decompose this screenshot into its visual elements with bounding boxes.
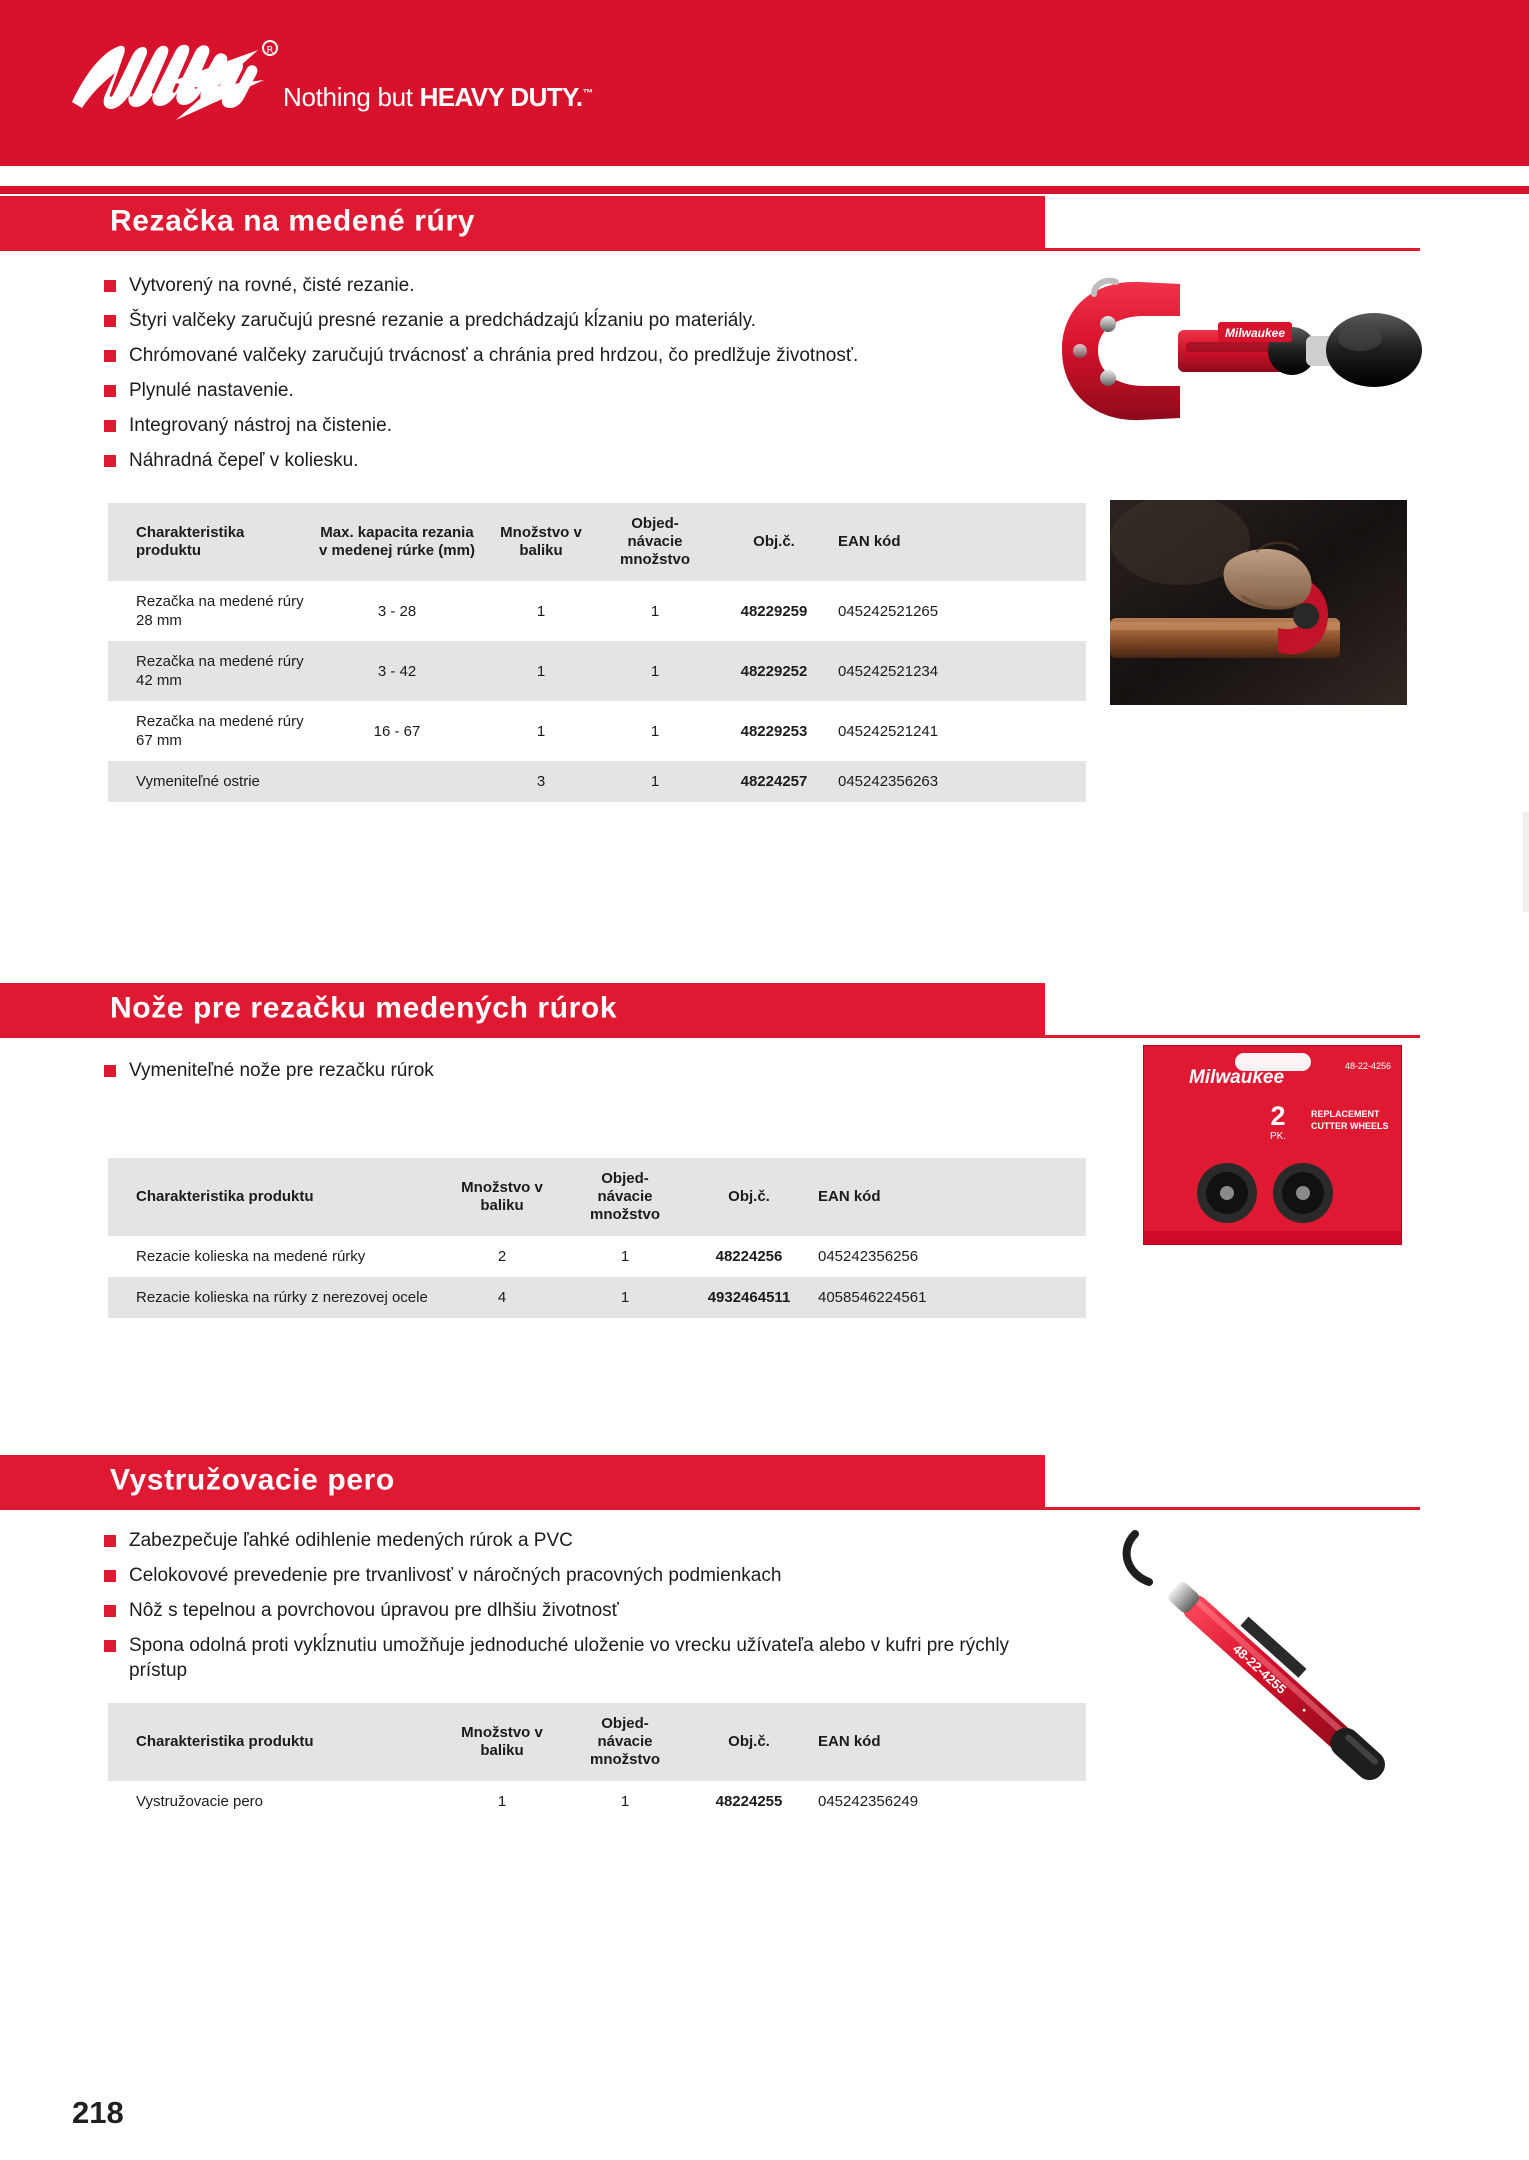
cell-capacity: 16 - 67	[308, 701, 486, 761]
product-table-deburring-pen: Charakteristika produktu Množstvo v bali…	[108, 1703, 1086, 1822]
col-header-order-qty: Objed- návacie množstvo	[596, 503, 714, 581]
header-line: Množstvo v	[500, 524, 582, 541]
col-header-ean: EAN kód	[814, 1703, 1086, 1781]
cell-characteristic: Rezačka na medené rúry 28 mm	[108, 581, 308, 641]
section-header-deburring-pen: Vystružovacie pero	[0, 1455, 1045, 1507]
cell-order-qty: 1	[566, 1277, 684, 1318]
bullet-text: Spona odolná proti vykĺznutiu umožňuje j…	[129, 1635, 1009, 1681]
section-rule	[0, 1507, 1420, 1510]
header-line: produktu	[136, 542, 201, 559]
bullet-text: Plynulé nastavenie.	[129, 380, 294, 401]
cell-pack-qty: 1	[486, 701, 596, 761]
cell-order-qty: 1	[596, 701, 714, 761]
table-header-row: Charakteristika produktu Max. kapacita r…	[108, 503, 1086, 581]
header-line: Max. kapacita rezania	[320, 524, 473, 541]
bullet-square-icon	[104, 455, 116, 467]
bullet-square-icon	[104, 350, 116, 362]
bullet-square-icon	[104, 1570, 116, 1582]
tagline-tm: ™	[583, 87, 594, 99]
list-item: Vymeniteľné nože pre rezačku rúrok	[104, 1058, 1034, 1083]
blister-line-1: REPLACEMENT	[1311, 1109, 1380, 1119]
cell-pack-qty: 1	[486, 581, 596, 641]
bullet-text: Vytvorený na rovné, čisté rezanie.	[129, 275, 415, 296]
blister-brand-label: Milwaukee	[1189, 1067, 1284, 1088]
list-item: Náhradná čepeľ v koliesku.	[104, 448, 1034, 473]
cell-pack-qty: 3	[486, 761, 596, 802]
header-line: v medenej rúrke (mm)	[319, 542, 475, 559]
deburring-pen-photo: 48-22-4255 •	[1105, 1520, 1435, 1830]
svg-text:R: R	[267, 45, 274, 56]
blister-qty: 2	[1270, 1101, 1285, 1131]
section-rule	[0, 248, 1420, 251]
table-row: Rezačka na medené rúry 28 mm 3 - 28 1 1 …	[108, 581, 1086, 641]
cell-order-code: 48224257	[714, 761, 834, 802]
table-row: Vymeniteľné ostrie 3 1 48224257 04524235…	[108, 761, 1086, 802]
bullet-text: Integrovaný nástroj na čistenie.	[129, 415, 392, 436]
table-row: Vystružovacie pero 1 1 48224255 04524235…	[108, 1781, 1086, 1822]
brand-header: R Nothing but HEAVY DUTY.™	[0, 0, 1529, 166]
header-line: baliku	[519, 542, 562, 559]
catalog-page: R Nothing but HEAVY DUTY.™ Rezačka na me…	[0, 0, 1529, 2160]
col-header-characteristic: Charakteristika produktu	[108, 1158, 438, 1236]
cell-order-qty: 1	[596, 761, 714, 802]
header-line: návacie	[597, 1188, 652, 1205]
brand-tagline: Nothing but HEAVY DUTY.™	[283, 82, 593, 113]
cell-ean: 4058546224561	[814, 1277, 1086, 1318]
col-header-characteristic: Charakteristika produktu	[108, 1703, 438, 1781]
cell-order-code: 48229259	[714, 581, 834, 641]
cell-pack-qty: 1	[438, 1781, 566, 1822]
brand-underline-rule	[0, 186, 1529, 194]
col-header-order-qty: Objed- návacie množstvo	[566, 1703, 684, 1781]
header-line: Objed-	[601, 1170, 649, 1187]
page-edge-marker	[1523, 812, 1529, 912]
cell-capacity	[308, 761, 486, 802]
cell-ean: 045242521234	[834, 641, 1086, 701]
bullet-text: Chrómované valčeky zaručujú trvácnosť a …	[129, 345, 858, 366]
list-item: Spona odolná proti vykĺznutiu umožňuje j…	[104, 1633, 1029, 1683]
cell-order-code: 48224255	[684, 1781, 814, 1822]
header-line: Množstvo v	[461, 1179, 543, 1196]
cell-ean: 045242356249	[814, 1781, 1086, 1822]
bullet-square-icon	[104, 315, 116, 327]
bullet-text: Celokovové prevedenie pre trvanlivosť v …	[129, 1565, 781, 1586]
svg-text:Milwaukee: Milwaukee	[1225, 326, 1285, 340]
cell-pack-qty: 4	[438, 1277, 566, 1318]
list-item: Nôž s tepelnou a povrchovou úpravou pre …	[104, 1598, 1029, 1623]
bullet-square-icon	[104, 1605, 116, 1617]
bullet-text: Nôž s tepelnou a povrchovou úpravou pre …	[129, 1600, 619, 1621]
bullet-text: Štyri valčeky zaručujú presné rezanie a …	[129, 310, 756, 331]
tagline-prefix: Nothing but	[283, 82, 420, 112]
col-header-order-code: Obj.č.	[684, 1158, 814, 1236]
table-row: Rezacie kolieska na rúrky z nerezovej oc…	[108, 1277, 1086, 1318]
header-line: množstvo	[590, 1206, 660, 1223]
cell-ean: 045242521241	[834, 701, 1086, 761]
col-header-order-qty: Objed- návacie množstvo	[566, 1158, 684, 1236]
table-row: Rezačka na medené rúry 42 mm 3 - 42 1 1 …	[108, 641, 1086, 701]
list-item: Integrovaný nástroj na čistenie.	[104, 413, 1034, 438]
col-header-order-code: Obj.č.	[714, 503, 834, 581]
cell-capacity: 3 - 28	[308, 581, 486, 641]
bullet-text: Vymeniteľné nože pre rezačku rúrok	[129, 1060, 434, 1081]
header-line: Objed-	[631, 515, 679, 532]
header-line: baliku	[480, 1742, 523, 1759]
list-item: Celokovové prevedenie pre trvanlivosť v …	[104, 1563, 1029, 1588]
list-item: Plynulé nastavenie.	[104, 378, 1034, 403]
copper-pipe-cutting-photo	[1110, 500, 1407, 705]
header-line: Charakteristika	[136, 524, 244, 541]
bullet-text: Náhradná čepeľ v koliesku.	[129, 450, 358, 471]
cell-order-code: 48229252	[714, 641, 834, 701]
cell-characteristic: Rezačka na medené rúry 67 mm	[108, 701, 308, 761]
table-row: Rezacie kolieska na medené rúrky 2 1 482…	[108, 1236, 1086, 1277]
cell-characteristic: Rezacie kolieska na rúrky z nerezovej oc…	[108, 1277, 438, 1318]
bullet-list-deburring-pen: Zabezpečuje ľahké odihlenie medených rúr…	[104, 1528, 1029, 1693]
cell-characteristic: Rezacie kolieska na medené rúrky	[108, 1236, 438, 1277]
cell-order-qty: 1	[566, 1236, 684, 1277]
bullet-square-icon	[104, 280, 116, 292]
section-title: Nože pre rezačku medených rúrok	[110, 991, 617, 1025]
bullet-square-icon	[104, 1640, 116, 1652]
cell-pack-qty: 2	[438, 1236, 566, 1277]
header-line: baliku	[480, 1197, 523, 1214]
list-item: Zabezpečuje ľahké odihlenie medených rúr…	[104, 1528, 1029, 1553]
cell-ean: 045242356263	[834, 761, 1086, 802]
tagline-bold: HEAVY DUTY.	[420, 82, 583, 112]
bullet-square-icon	[104, 1535, 116, 1547]
milwaukee-logo-icon: R	[58, 28, 298, 128]
header-line: množstvo	[590, 1751, 660, 1768]
bullet-text: Zabezpečuje ľahké odihlenie medených rúr…	[129, 1530, 573, 1551]
table-header-row: Charakteristika produktu Množstvo v bali…	[108, 1158, 1086, 1236]
cell-ean: 045242521265	[834, 581, 1086, 641]
list-item: Vytvorený na rovné, čisté rezanie.	[104, 273, 1034, 298]
blister-code-label: 48-22-4256	[1345, 1061, 1391, 1071]
col-header-pack-qty: Množstvo v baliku	[438, 1158, 566, 1236]
list-item: Štyri valčeky zaručujú presné rezanie a …	[104, 308, 1034, 333]
header-line: návacie	[597, 1733, 652, 1750]
page-number: 218	[72, 2095, 124, 2131]
cell-order-qty: 1	[566, 1781, 684, 1822]
product-table-cutter-wheels: Charakteristika produktu Množstvo v bali…	[108, 1158, 1086, 1318]
cell-order-code: 48224256	[684, 1236, 814, 1277]
cell-pack-qty: 1	[486, 641, 596, 701]
header-line: množstvo	[620, 551, 690, 568]
blister-line-2: CUTTER WHEELS	[1311, 1121, 1389, 1131]
replacement-cutter-wheels-blister-photo: Milwaukee 48-22-4256 2 PK. REPLACEMENT C…	[1143, 1045, 1402, 1245]
cell-order-qty: 1	[596, 581, 714, 641]
bullet-square-icon	[104, 1065, 116, 1077]
col-header-characteristic: Charakteristika produktu	[108, 503, 308, 581]
cell-characteristic: Rezačka na medené rúry 42 mm	[108, 641, 308, 701]
col-header-ean: EAN kód	[834, 503, 1086, 581]
cell-characteristic: Vymeniteľné ostrie	[108, 761, 308, 802]
blister-qty-unit: PK.	[1270, 1131, 1286, 1142]
table-header-row: Charakteristika produktu Množstvo v bali…	[108, 1703, 1086, 1781]
table-row: Rezačka na medené rúry 67 mm 16 - 67 1 1…	[108, 701, 1086, 761]
cell-capacity: 3 - 42	[308, 641, 486, 701]
col-header-pack-qty: Množstvo v baliku	[438, 1703, 566, 1781]
product-table-pipe-cutter: Charakteristika produktu Max. kapacita r…	[108, 503, 1086, 802]
cell-order-code: 4932464511	[684, 1277, 814, 1318]
header-line: Množstvo v	[461, 1724, 543, 1741]
section-header-cutter-wheels: Nože pre rezačku medených rúrok	[0, 983, 1045, 1035]
section-title: Rezačka na medené rúry	[110, 204, 475, 238]
cell-order-qty: 1	[596, 641, 714, 701]
list-item: Chrómované valčeky zaručujú trvácnosť a …	[104, 343, 1034, 368]
bullet-square-icon	[104, 420, 116, 432]
header-line: návacie	[627, 533, 682, 550]
bullet-square-icon	[104, 385, 116, 397]
bullet-list-pipe-cutter: Vytvorený na rovné, čisté rezanie. Štyri…	[104, 273, 1034, 483]
section-header-pipe-cutter: Rezačka na medené rúry	[0, 196, 1045, 248]
col-header-pack-qty: Množstvo v baliku	[486, 503, 596, 581]
header-line: Objed-	[601, 1715, 649, 1732]
cell-characteristic: Vystružovacie pero	[108, 1781, 438, 1822]
col-header-capacity: Max. kapacita rezania v medenej rúrke (m…	[308, 503, 486, 581]
col-header-ean: EAN kód	[814, 1158, 1086, 1236]
cell-order-code: 48229253	[714, 701, 834, 761]
col-header-order-code: Obj.č.	[684, 1703, 814, 1781]
bullet-list-cutter-wheels: Vymeniteľné nože pre rezačku rúrok	[104, 1058, 1034, 1093]
section-rule	[0, 1035, 1420, 1038]
pipe-cutter-product-photo: Milwaukee	[1040, 272, 1425, 432]
cell-ean: 045242356256	[814, 1236, 1086, 1277]
section-title: Vystružovacie pero	[110, 1463, 395, 1497]
